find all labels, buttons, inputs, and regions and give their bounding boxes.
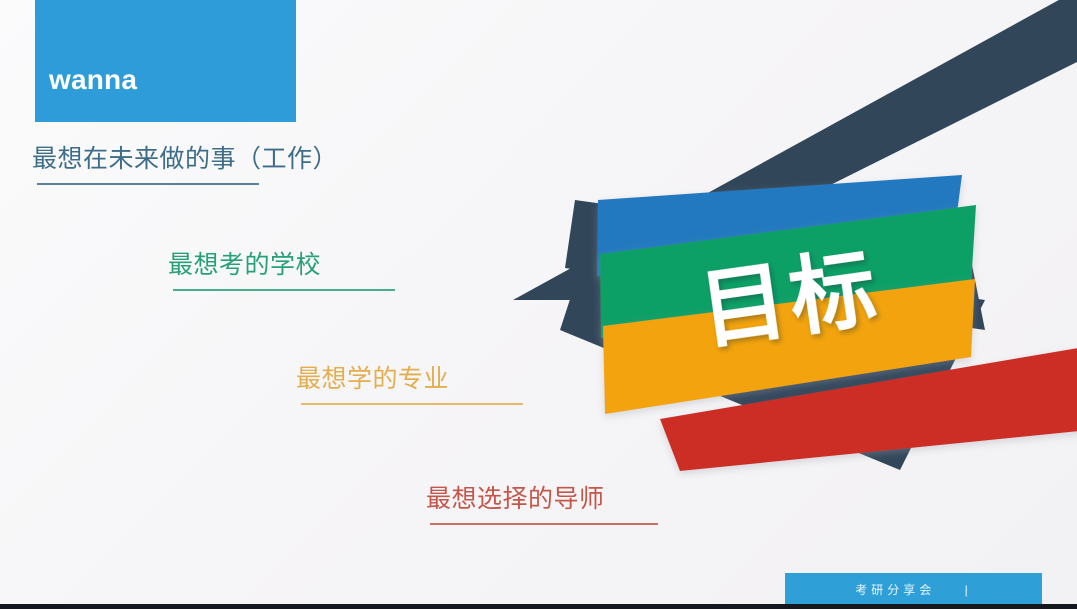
goal-line-advisor-text: 最想选择的导师 — [426, 486, 658, 514]
goal-line-advisor: 最想选择的导师 — [426, 486, 658, 525]
green-bar — [600, 205, 976, 338]
goal-line-work-text: 最想在未来做的事（工作） — [32, 146, 338, 174]
footer-label: 考研分享会 | — [855, 581, 971, 598]
goal-line-major-rule — [301, 403, 523, 405]
goal-line-advisor-rule — [430, 523, 658, 525]
orange-bar — [603, 279, 975, 414]
goal-line-work: 最想在未来做的事（工作） — [32, 146, 338, 185]
goal-line-major-text: 最想学的专业 — [296, 366, 523, 394]
goal-label-text: 目标 — [694, 240, 886, 360]
navy-backing-wedge — [560, 200, 985, 470]
slide-canvas: 目标 wanna 最想在未来做的事（工作） 最想考的学校 最想学的专业 最想选择… — [0, 0, 1077, 609]
goal-line-work-rule — [37, 183, 259, 185]
goal-line-major: 最想学的专业 — [296, 366, 523, 405]
blue-bar — [597, 175, 962, 276]
wanna-badge-label: wanna — [49, 66, 137, 94]
wanna-badge: wanna — [35, 0, 296, 122]
red-bar — [660, 346, 1077, 471]
goal-line-school-text: 最想考的学校 — [168, 252, 395, 280]
footer-bar: 考研分享会 | — [785, 573, 1042, 605]
goal-line-school: 最想考的学校 — [168, 252, 395, 291]
bottom-strip — [0, 604, 1077, 609]
goal-line-school-rule — [173, 289, 395, 291]
